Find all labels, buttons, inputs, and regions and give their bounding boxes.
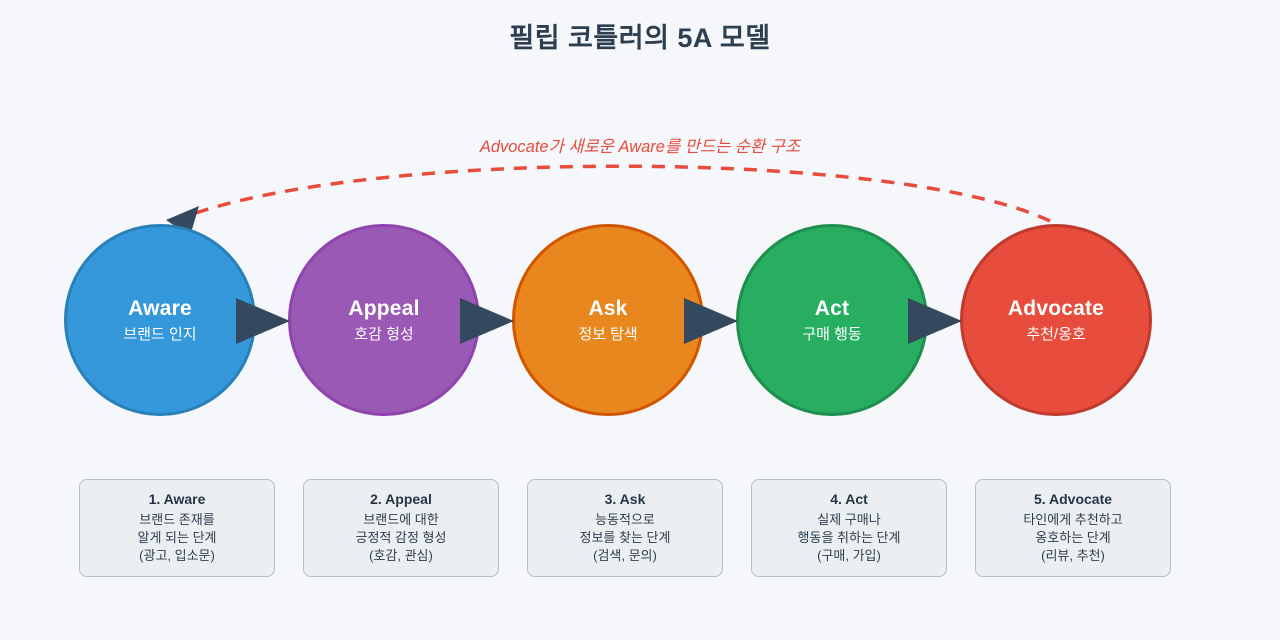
stage-card-advocate-title: 5. Advocate (1034, 491, 1112, 507)
stage-card-ask-line-1: 능동적으로 (595, 511, 655, 529)
stage-circle-aware-label: Aware (128, 297, 192, 320)
stage-circle-act-sublabel: 구매 행동 (802, 327, 861, 344)
stage-card-act[interactable]: 4. Act 실제 구매나 행동을 취하는 단계 (구매, 가입) (751, 479, 947, 577)
stage-card-act-line-1: 실제 구매나 (817, 511, 880, 529)
stage-card-appeal-line-3: (호감, 관심) (369, 547, 433, 565)
stage-card-ask-line-3: (검색, 문의) (593, 547, 657, 565)
flow-arrow-icon-2 (460, 298, 514, 344)
stage-circle-ask[interactable]: Ask 정보 탐색 (512, 224, 704, 416)
stage-card-act-line-3: (구매, 가입) (817, 547, 881, 565)
stage-card-act-title: 4. Act (830, 491, 868, 507)
stage-circle-ask-sublabel: 정보 탐색 (578, 327, 637, 344)
stage-card-aware-line-3: (광고, 입소문) (139, 547, 215, 565)
stage-circle-advocate-sublabel: 추천/옹호 (1026, 327, 1085, 344)
stage-circle-act-label: Act (815, 297, 849, 320)
stage-card-aware[interactable]: 1. Aware 브랜드 존재를 알게 되는 단계 (광고, 입소문) (79, 479, 275, 577)
stage-card-appeal[interactable]: 2. Appeal 브랜드에 대한 긍정적 감정 형성 (호감, 관심) (303, 479, 499, 577)
stage-card-appeal-line-2: 긍정적 감정 형성 (356, 529, 447, 547)
stage-card-appeal-line-1: 브랜드에 대한 (363, 511, 438, 529)
stage-circle-appeal[interactable]: Appeal 호감 형성 (288, 224, 480, 416)
stage-circle-appeal-sublabel: 호감 형성 (354, 327, 413, 344)
stage-circle-appeal-label: Appeal (348, 297, 419, 320)
stage-circle-act[interactable]: Act 구매 행동 (736, 224, 928, 416)
stage-circle-ask-label: Ask (588, 297, 627, 320)
stage-circle-aware[interactable]: Aware 브랜드 인지 (64, 224, 256, 416)
stage-card-act-line-2: 행동을 취하는 단계 (798, 529, 901, 547)
stage-card-advocate-line-2: 옹호하는 단계 (1035, 529, 1110, 547)
diagram-canvas: 필립 코틀러의 5A 모델 Advocate가 새로운 Aware를 만드는 순… (0, 0, 1280, 640)
stage-description-cards: 1. Aware 브랜드 존재를 알게 되는 단계 (광고, 입소문) 2. A… (0, 479, 1280, 579)
stage-card-appeal-title: 2. Appeal (370, 491, 432, 507)
stage-card-ask-line-2: 정보를 찾는 단계 (580, 529, 671, 547)
stage-card-ask-title: 3. Ask (605, 491, 646, 507)
stage-circle-advocate[interactable]: Advocate 추천/옹호 (960, 224, 1152, 416)
flow-arrow-icon-1 (236, 298, 290, 344)
stage-circle-aware-sublabel: 브랜드 인지 (123, 327, 196, 344)
stage-card-aware-title: 1. Aware (149, 491, 206, 507)
stage-card-ask[interactable]: 3. Ask 능동적으로 정보를 찾는 단계 (검색, 문의) (527, 479, 723, 577)
stage-card-aware-line-2: 알게 되는 단계 (138, 529, 217, 547)
stage-card-aware-line-1: 브랜드 존재를 (139, 511, 214, 529)
stage-card-advocate[interactable]: 5. Advocate 타인에게 추천하고 옹호하는 단계 (리뷰, 추천) (975, 479, 1171, 577)
stage-card-advocate-line-3: (리뷰, 추천) (1041, 547, 1105, 565)
flow-arrow-icon-4 (908, 298, 962, 344)
flow-arrow-icon-3 (684, 298, 738, 344)
stage-circle-advocate-label: Advocate (1008, 297, 1104, 320)
stage-card-advocate-line-1: 타인에게 추천하고 (1023, 511, 1122, 529)
